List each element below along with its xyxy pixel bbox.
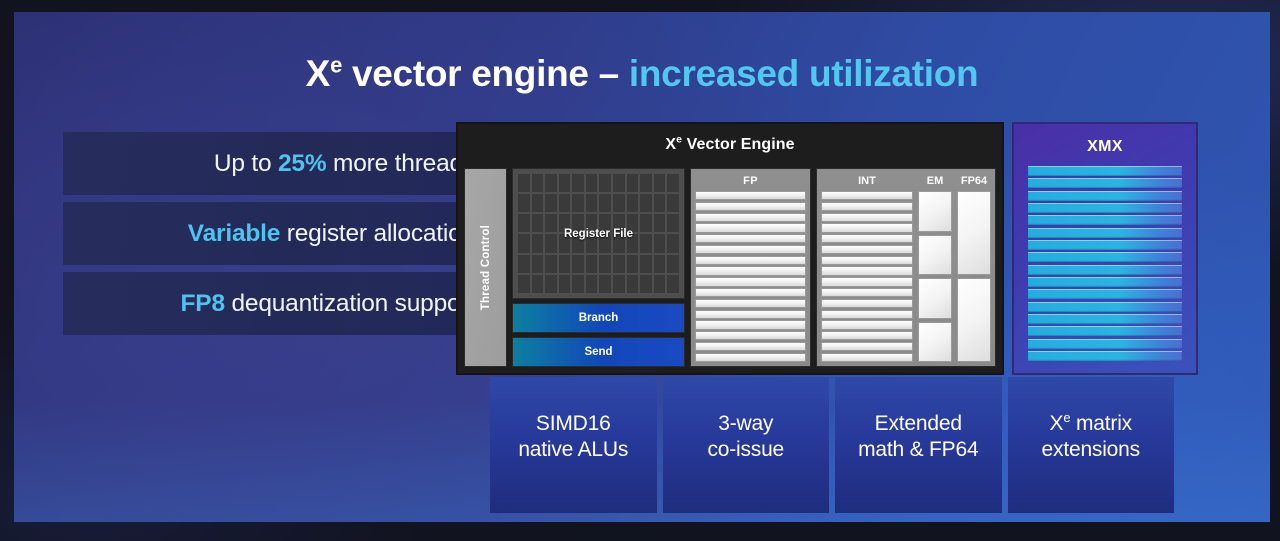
- register-cell: [586, 194, 598, 212]
- register-cell: [586, 255, 598, 273]
- caption-line1: 3-way: [718, 412, 773, 435]
- title-xe-superscript: e: [330, 53, 342, 78]
- bullet-suffix: more threads: [326, 150, 475, 177]
- register-cell: [545, 174, 557, 192]
- xmx-bar: [1028, 326, 1182, 336]
- fp64-unit-block: FP64: [957, 173, 991, 362]
- bullet-highlight: 25%: [278, 150, 326, 177]
- fp-unit-label: FP: [695, 173, 806, 191]
- fp-lane: [695, 299, 806, 308]
- xmx-bar-stack: [1028, 166, 1182, 361]
- caption-extended-math: Extended math & FP64: [835, 377, 1002, 513]
- caption-text: Extended math & FP64: [858, 411, 978, 463]
- int-lane: [821, 213, 913, 222]
- presentation-slide: Xe vector engine – increased utilization…: [14, 12, 1270, 522]
- register-cell: [545, 275, 557, 293]
- fp-lane: [695, 202, 806, 211]
- register-cell: [627, 194, 639, 212]
- register-cell: [667, 275, 679, 293]
- register-cell: [627, 255, 639, 273]
- slide-screenshot: Xe vector engine – increased utilization…: [0, 0, 1280, 541]
- em-block: [918, 235, 952, 276]
- fp-lane: [695, 234, 806, 243]
- fp-lane: [695, 342, 806, 351]
- int-unit-label: INT: [821, 173, 913, 191]
- register-cell: [613, 255, 625, 273]
- em-block: [918, 322, 952, 363]
- fp-lane: [695, 310, 806, 319]
- register-cell: [654, 255, 666, 273]
- caption-line1: SIMD16: [536, 412, 611, 435]
- xmx-bar: [1028, 277, 1182, 287]
- branch-block: Branch: [512, 303, 685, 333]
- xmx-bar: [1028, 339, 1182, 349]
- bullet-text: Up to 25% more threads: [214, 150, 475, 178]
- xmx-title: XMX: [1014, 138, 1196, 156]
- int-lane: [821, 342, 913, 351]
- register-cell: [640, 275, 652, 293]
- int-lane: [821, 288, 913, 297]
- register-cell: [613, 174, 625, 192]
- engine-title-x: X: [665, 136, 676, 153]
- bullet-item-register-allocation: Variable register allocation: [63, 202, 483, 265]
- fp-lane: [695, 266, 806, 275]
- register-cell: [654, 275, 666, 293]
- register-cell: [532, 194, 544, 212]
- register-cell: [572, 174, 584, 192]
- xmx-bar: [1028, 314, 1182, 324]
- bullet-prefix: Up to: [214, 150, 278, 177]
- int-lane: [821, 299, 913, 308]
- register-cell: [640, 174, 652, 192]
- caption-line2: native ALUs: [518, 438, 628, 461]
- fp-unit-block: FP: [690, 168, 811, 367]
- register-cell: [586, 174, 598, 192]
- send-block: Send: [512, 337, 685, 367]
- caption-line2: math & FP64: [858, 438, 978, 461]
- register-cell: [613, 194, 625, 212]
- caption-line2: extensions: [1042, 438, 1140, 461]
- register-cell: [532, 255, 544, 273]
- int-lane: [821, 331, 913, 340]
- register-cell: [599, 275, 611, 293]
- caption-co-issue: 3-way co-issue: [663, 377, 830, 513]
- register-cell: [627, 174, 639, 192]
- xmx-bar: [1028, 252, 1182, 262]
- caption-line1: Extended: [875, 412, 962, 435]
- engine-body: Thread Control Register File Branch Send…: [464, 168, 996, 367]
- register-cell: [559, 194, 571, 212]
- fp-lane: [695, 245, 806, 254]
- xmx-bar: [1028, 265, 1182, 275]
- thread-control-label: Thread Control: [480, 225, 492, 310]
- em-block: [918, 191, 952, 232]
- title-accent-text: increased utilization: [629, 53, 978, 94]
- caption-row: SIMD16 native ALUs 3-way co-issue Extend…: [490, 377, 1174, 513]
- fp-lane: [695, 331, 806, 340]
- fp-lane: [695, 353, 806, 362]
- fp64-block: [957, 278, 991, 362]
- xe-vector-engine-diagram: Xe Vector Engine Thread Control Register…: [456, 122, 1004, 375]
- xmx-bar: [1028, 191, 1182, 201]
- register-cell: [654, 174, 666, 192]
- register-cell: [559, 275, 571, 293]
- int-lane: [821, 277, 913, 286]
- register-cell: [667, 174, 679, 192]
- register-cell: [613, 275, 625, 293]
- xmx-bar: [1028, 289, 1182, 299]
- bullet-list: Up to 25% more threads Variable register…: [63, 132, 483, 342]
- xmx-bar: [1028, 166, 1182, 176]
- int-lane: [821, 310, 913, 319]
- register-cell: [532, 174, 544, 192]
- register-cell: [518, 255, 530, 273]
- caption-line1-post: matrix: [1070, 412, 1132, 435]
- register-cell: [667, 255, 679, 273]
- register-cell: [559, 174, 571, 192]
- engine-title: Xe Vector Engine: [458, 136, 1002, 154]
- xmx-bar: [1028, 178, 1182, 188]
- caption-text: 3-way co-issue: [707, 411, 784, 463]
- fp64-unit-label: FP64: [957, 173, 991, 191]
- int-lane: [821, 223, 913, 232]
- em-block-stack: [918, 191, 952, 362]
- title-main-text: vector engine: [342, 53, 599, 94]
- register-cell: [640, 255, 652, 273]
- caption-line1-x: X: [1050, 412, 1064, 435]
- register-cell: [572, 194, 584, 212]
- engine-title-rest: Vector Engine: [682, 136, 795, 153]
- title-xe-x: X: [306, 53, 330, 94]
- int-lane: [821, 320, 913, 329]
- register-cell: [572, 275, 584, 293]
- register-cell: [599, 194, 611, 212]
- page-title: Xe vector engine – increased utilization: [14, 53, 1270, 95]
- int-unit-block: INT: [821, 173, 913, 362]
- thread-control-block: Thread Control: [464, 168, 507, 367]
- em-unit-label: EM: [918, 173, 952, 191]
- em-block: [918, 278, 952, 319]
- fp-lane-stack: [695, 191, 806, 362]
- int-lane: [821, 202, 913, 211]
- xmx-bar: [1028, 351, 1182, 361]
- register-cell: [518, 275, 530, 293]
- fp-lane: [695, 288, 806, 297]
- caption-simd16: SIMD16 native ALUs: [490, 377, 657, 513]
- int-lane: [821, 353, 913, 362]
- fp-lane: [695, 256, 806, 265]
- fp-lane: [695, 223, 806, 232]
- register-file-block: Register File: [512, 168, 685, 299]
- xmx-bar: [1028, 302, 1182, 312]
- register-cell: [532, 275, 544, 293]
- bullet-highlight: Variable: [188, 220, 280, 247]
- bullet-text: Variable register allocation: [188, 220, 475, 248]
- bullet-suffix: register allocation: [280, 220, 475, 247]
- int-lane: [821, 266, 913, 275]
- caption-text: Xe matrix extensions: [1042, 411, 1140, 463]
- bullet-item-threads: Up to 25% more threads: [63, 132, 483, 195]
- caption-line2: co-issue: [707, 438, 784, 461]
- fp-lane: [695, 213, 806, 222]
- register-file-label: Register File: [513, 228, 684, 240]
- register-cell: [640, 194, 652, 212]
- register-cell: [654, 194, 666, 212]
- register-cell: [518, 194, 530, 212]
- register-cell: [559, 255, 571, 273]
- bullet-highlight: FP8: [181, 290, 225, 317]
- fp64-block: [957, 191, 991, 275]
- register-cell: [586, 275, 598, 293]
- register-cell: [545, 255, 557, 273]
- register-cell: [518, 174, 530, 192]
- register-cell: [599, 255, 611, 273]
- int-lane: [821, 245, 913, 254]
- bullet-suffix: dequantization support: [225, 290, 475, 317]
- int-lane: [821, 256, 913, 265]
- int-lane-stack: [821, 191, 913, 362]
- xmx-bar: [1028, 228, 1182, 238]
- em-unit-block: EM: [918, 173, 952, 362]
- caption-xe-matrix: Xe matrix extensions: [1008, 377, 1175, 513]
- int-lane: [821, 191, 913, 200]
- register-cell: [627, 275, 639, 293]
- int-unit-group: INT EM FP64: [816, 168, 996, 367]
- title-dash: –: [599, 53, 629, 94]
- xmx-diagram: XMX: [1012, 122, 1198, 375]
- bullet-text: FP8 dequantization support: [181, 290, 475, 318]
- fp64-block-stack: [957, 191, 991, 362]
- fp-lane: [695, 277, 806, 286]
- fp-lane: [695, 191, 806, 200]
- xmx-bar: [1028, 215, 1182, 225]
- xmx-bar: [1028, 240, 1182, 250]
- register-cell: [599, 174, 611, 192]
- caption-text: SIMD16 native ALUs: [518, 411, 628, 463]
- xmx-bar: [1028, 203, 1182, 213]
- register-column: Register File Branch Send: [512, 168, 685, 367]
- register-cell: [545, 194, 557, 212]
- register-cell: [667, 194, 679, 212]
- register-cell: [572, 255, 584, 273]
- int-lane: [821, 234, 913, 243]
- fp-lane: [695, 320, 806, 329]
- bullet-item-fp8: FP8 dequantization support: [63, 272, 483, 335]
